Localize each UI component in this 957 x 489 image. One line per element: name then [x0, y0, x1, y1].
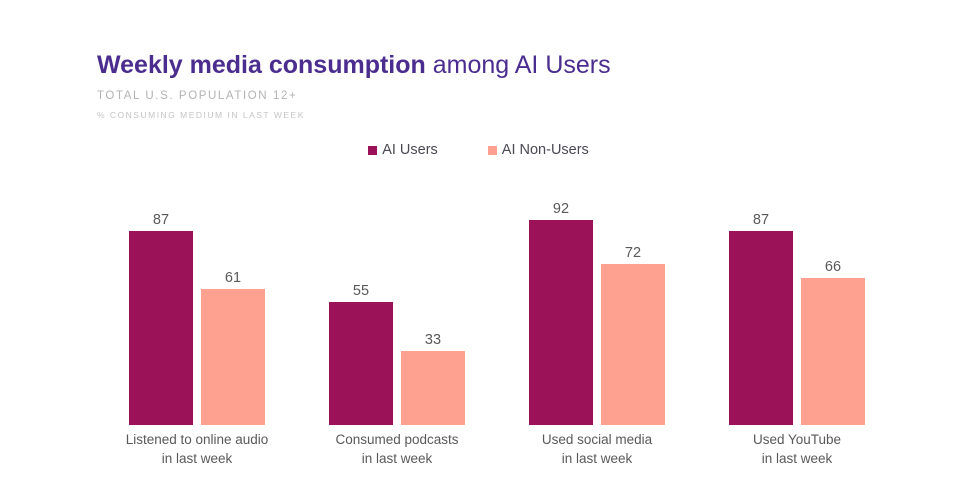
category-label-line: Used YouTube	[697, 430, 897, 449]
chart-legend: AI UsersAI Non-Users	[0, 142, 957, 158]
bar-rect[interactable]	[129, 231, 193, 425]
category-label-line: in last week	[497, 449, 697, 468]
chart-header: Weekly media consumption among AI Users …	[97, 50, 897, 120]
chart-container: Weekly media consumption among AI Users …	[0, 0, 957, 489]
bar-rect[interactable]	[529, 220, 593, 425]
bar-groups: 8761553392728766	[97, 180, 897, 425]
legend-item-1[interactable]: AI Users	[368, 142, 438, 158]
bar-group-2: 5533	[297, 180, 497, 425]
category-label-line: in last week	[697, 449, 897, 468]
chart-plot-area: 8761553392728766	[97, 180, 897, 425]
bar-rect[interactable]	[801, 278, 865, 425]
bar-ai-non-users-1[interactable]: 61	[201, 180, 265, 425]
bar-rect[interactable]	[329, 302, 393, 425]
bar-rect[interactable]	[401, 351, 465, 425]
bar-ai-users-1[interactable]: 87	[129, 180, 193, 425]
bar-value-label: 33	[425, 332, 441, 348]
chart-subtitle: TOTAL U.S. POPULATION 12+	[97, 90, 897, 102]
chart-subtitle-secondary: % CONSUMING MEDIUM IN LAST WEEK	[97, 110, 897, 120]
category-label-1: Listened to online audioin last week	[97, 430, 297, 468]
category-label-4: Used YouTubein last week	[697, 430, 897, 468]
category-label-2: Consumed podcastsin last week	[297, 430, 497, 468]
category-axis-labels: Listened to online audioin last weekCons…	[97, 430, 897, 468]
category-label-line: Used social media	[497, 430, 697, 449]
bar-ai-non-users-3[interactable]: 72	[601, 180, 665, 425]
bar-group-bars: 8766	[697, 180, 897, 425]
category-label-line: Listened to online audio	[97, 430, 297, 449]
bar-ai-non-users-2[interactable]: 33	[401, 180, 465, 425]
bar-group-bars: 5533	[297, 180, 497, 425]
bar-value-label: 87	[753, 212, 769, 228]
bar-value-label: 61	[225, 270, 241, 286]
bar-group-bars: 8761	[97, 180, 297, 425]
legend-item-label: AI Users	[382, 142, 438, 158]
bar-ai-users-3[interactable]: 92	[529, 180, 593, 425]
bar-ai-users-4[interactable]: 87	[729, 180, 793, 425]
chart-title: Weekly media consumption among AI Users	[97, 50, 897, 80]
category-label-3: Used social mediain last week	[497, 430, 697, 468]
bar-rect[interactable]	[729, 231, 793, 425]
category-label-line: in last week	[297, 449, 497, 468]
bar-group-1: 8761	[97, 180, 297, 425]
legend-item-label: AI Non-Users	[502, 142, 589, 158]
bar-value-label: 72	[625, 245, 641, 261]
bar-ai-non-users-4[interactable]: 66	[801, 180, 865, 425]
category-label-line: in last week	[97, 449, 297, 468]
legend-swatch-icon	[488, 146, 497, 155]
chart-title-rest: among AI Users	[426, 51, 611, 79]
bar-group-3: 9272	[497, 180, 697, 425]
bar-ai-users-2[interactable]: 55	[329, 180, 393, 425]
legend-item-2[interactable]: AI Non-Users	[488, 142, 589, 158]
bar-value-label: 55	[353, 283, 369, 299]
bar-value-label: 92	[553, 201, 569, 217]
bar-group-4: 8766	[697, 180, 897, 425]
bar-value-label: 87	[153, 212, 169, 228]
bar-value-label: 66	[825, 259, 841, 275]
bar-rect[interactable]	[201, 289, 265, 425]
bar-rect[interactable]	[601, 264, 665, 425]
legend-swatch-icon	[368, 146, 377, 155]
bar-group-bars: 9272	[497, 180, 697, 425]
category-label-line: Consumed podcasts	[297, 430, 497, 449]
chart-title-emphasis: Weekly media consumption	[97, 51, 426, 79]
